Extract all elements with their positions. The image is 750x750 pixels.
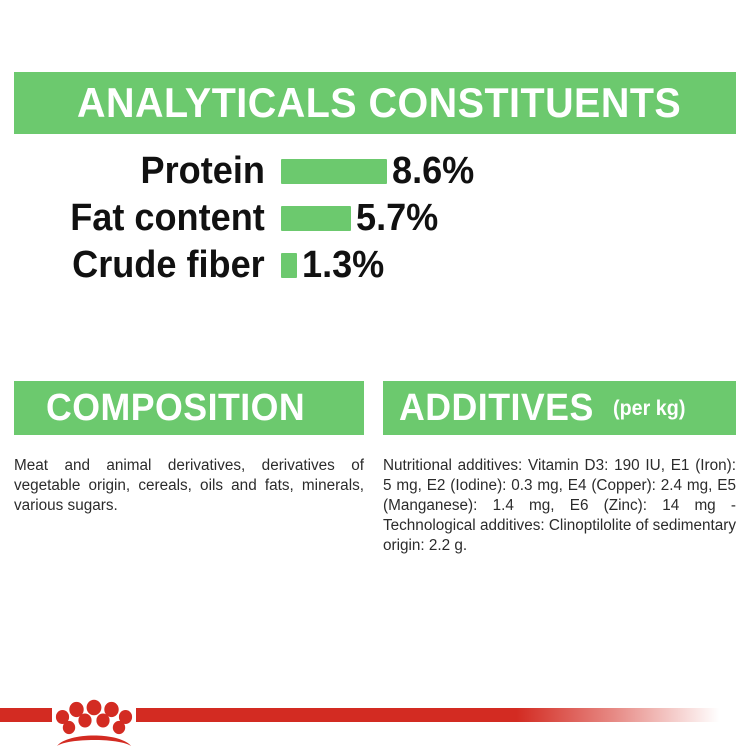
constituent-bar-protein: [281, 159, 387, 184]
constituent-value-fat-content: 5.7%: [356, 195, 438, 242]
additives-subtitle: (per kg): [613, 398, 685, 419]
constituent-bar-crude-fiber: [281, 253, 297, 278]
additives-header: ADDITIVES (per kg): [383, 381, 736, 435]
constituent-row-fat-content: Fat content 5.7%: [0, 195, 750, 242]
analyticals-constituents-header: ANALYTICALS CONSTITUENTS: [14, 72, 736, 134]
constituent-row-crude-fiber: Crude fiber 1.3%: [0, 242, 750, 289]
analyticals-constituents-title: ANALYTICALS CONSTITUENTS: [77, 82, 681, 124]
constituent-label-protein: Protein: [141, 148, 265, 195]
constituent-track-protein: 8.6%: [281, 148, 479, 195]
analyticals-constituents-chart: Protein 8.6% Fat content 5.7% Crude fibe…: [0, 148, 750, 289]
constituent-track-fat-content: 5.7%: [281, 195, 443, 242]
footer-rule-right: [136, 708, 750, 722]
footer-rule-left: [0, 708, 52, 722]
composition-header: COMPOSITION: [14, 381, 364, 435]
constituent-track-crude-fiber: 1.3%: [281, 242, 389, 289]
product-info-panel: ANALYTICALS CONSTITUENTS Protein 8.6% Fa…: [0, 0, 750, 750]
additives-title: ADDITIVES: [399, 389, 594, 427]
constituent-bar-fat-content: [281, 206, 351, 231]
brand-footer: [0, 694, 750, 750]
constituent-value-protein: 8.6%: [392, 148, 474, 195]
constituent-label-fat-content: Fat content: [70, 195, 265, 242]
constituent-row-protein: Protein 8.6%: [0, 148, 750, 195]
additives-body-text: Nutritional additives: Vitamin D3: 190 I…: [383, 456, 736, 556]
composition-body-text: Meat and animal derivatives, derivatives…: [14, 456, 364, 516]
royal-canin-crown-icon: [52, 694, 136, 750]
constituent-value-crude-fiber: 1.3%: [302, 242, 384, 289]
composition-title: COMPOSITION: [46, 389, 305, 427]
constituent-label-crude-fiber: Crude fiber: [72, 242, 265, 289]
